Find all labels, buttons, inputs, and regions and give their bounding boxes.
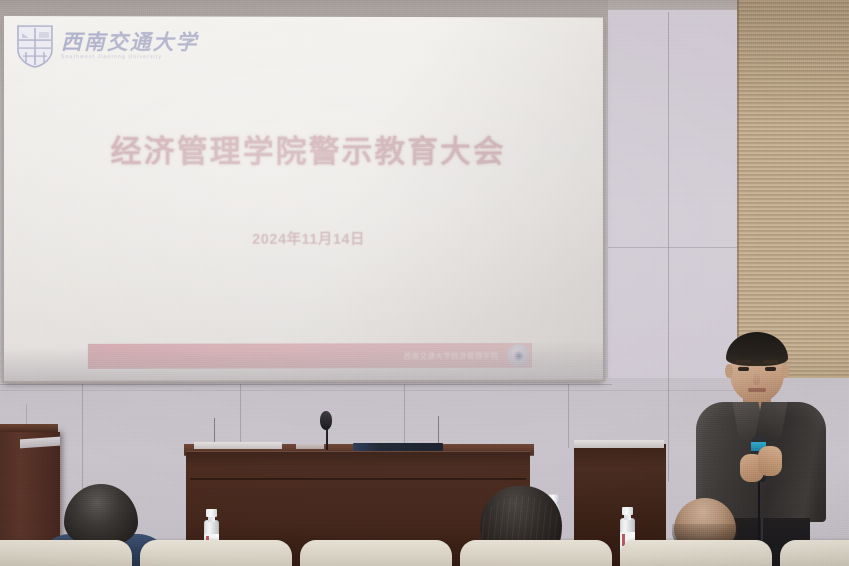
desk-paper [296, 444, 324, 449]
name-plate [194, 442, 282, 449]
speaker-nose [753, 372, 760, 385]
slide-band-tail [532, 343, 603, 368]
wall-seam-vertical-5 [668, 12, 669, 482]
speaker-eyebrow-right [763, 360, 778, 363]
slide-title: 经济管理学院警示教育大会 [4, 126, 603, 171]
speaker-hand-right [758, 446, 782, 476]
wall-seam-vertical-3 [404, 384, 405, 448]
chair-back[interactable] [140, 540, 292, 566]
chair-back[interactable] [300, 540, 452, 566]
table-mic-stand-right [438, 416, 439, 446]
chair-back[interactable] [460, 540, 612, 566]
speaker-eyebrow-left [736, 360, 751, 363]
slide-footer-band: 西南交通大学经济管理学院 ◉ [88, 343, 532, 369]
wall-seam-vertical-4 [568, 384, 569, 448]
projection-screen[interactable]: 西南交通大学 Southwest Jiaotong University 经济管… [4, 16, 603, 381]
speaker-ear-right [781, 364, 789, 378]
chair-back[interactable] [780, 540, 849, 566]
logo-name-en: Southwest Jiaotong University [61, 56, 198, 61]
speaker-eye-left [738, 367, 749, 371]
slide-date: 2024年11月14日 [4, 228, 603, 249]
wall-seam-horizontal [0, 384, 612, 385]
shield-crest-icon [16, 24, 54, 68]
presiding-table-groove [190, 478, 526, 480]
speaker-ear-left [725, 364, 733, 378]
speaker-eye-right [765, 367, 776, 371]
lecture-hall-photograph: 西南交通大学 Southwest Jiaotong University 经济管… [0, 0, 849, 566]
logo-name-cn: 西南交通大学 [61, 32, 198, 53]
audience-head [64, 484, 138, 546]
desk-microphone[interactable] [320, 411, 332, 430]
chair-back[interactable] [620, 540, 772, 566]
slide-footer-text: 西南交通大学经济管理学院 [404, 350, 499, 361]
chair-back[interactable] [0, 540, 132, 566]
slide-institution-logo: 西南交通大学 Southwest Jiaotong University [16, 24, 198, 68]
side-table-paper [574, 440, 664, 448]
circular-seal-icon: ◉ [507, 344, 530, 367]
front-row-chairs [0, 540, 849, 566]
wall-seam-horizontal-2 [0, 390, 740, 391]
wall-upper-band [0, 0, 620, 17]
projector-light-falloff [4, 16, 603, 381]
speaker-mouth [748, 388, 766, 392]
desk-tablet[interactable] [353, 443, 443, 451]
